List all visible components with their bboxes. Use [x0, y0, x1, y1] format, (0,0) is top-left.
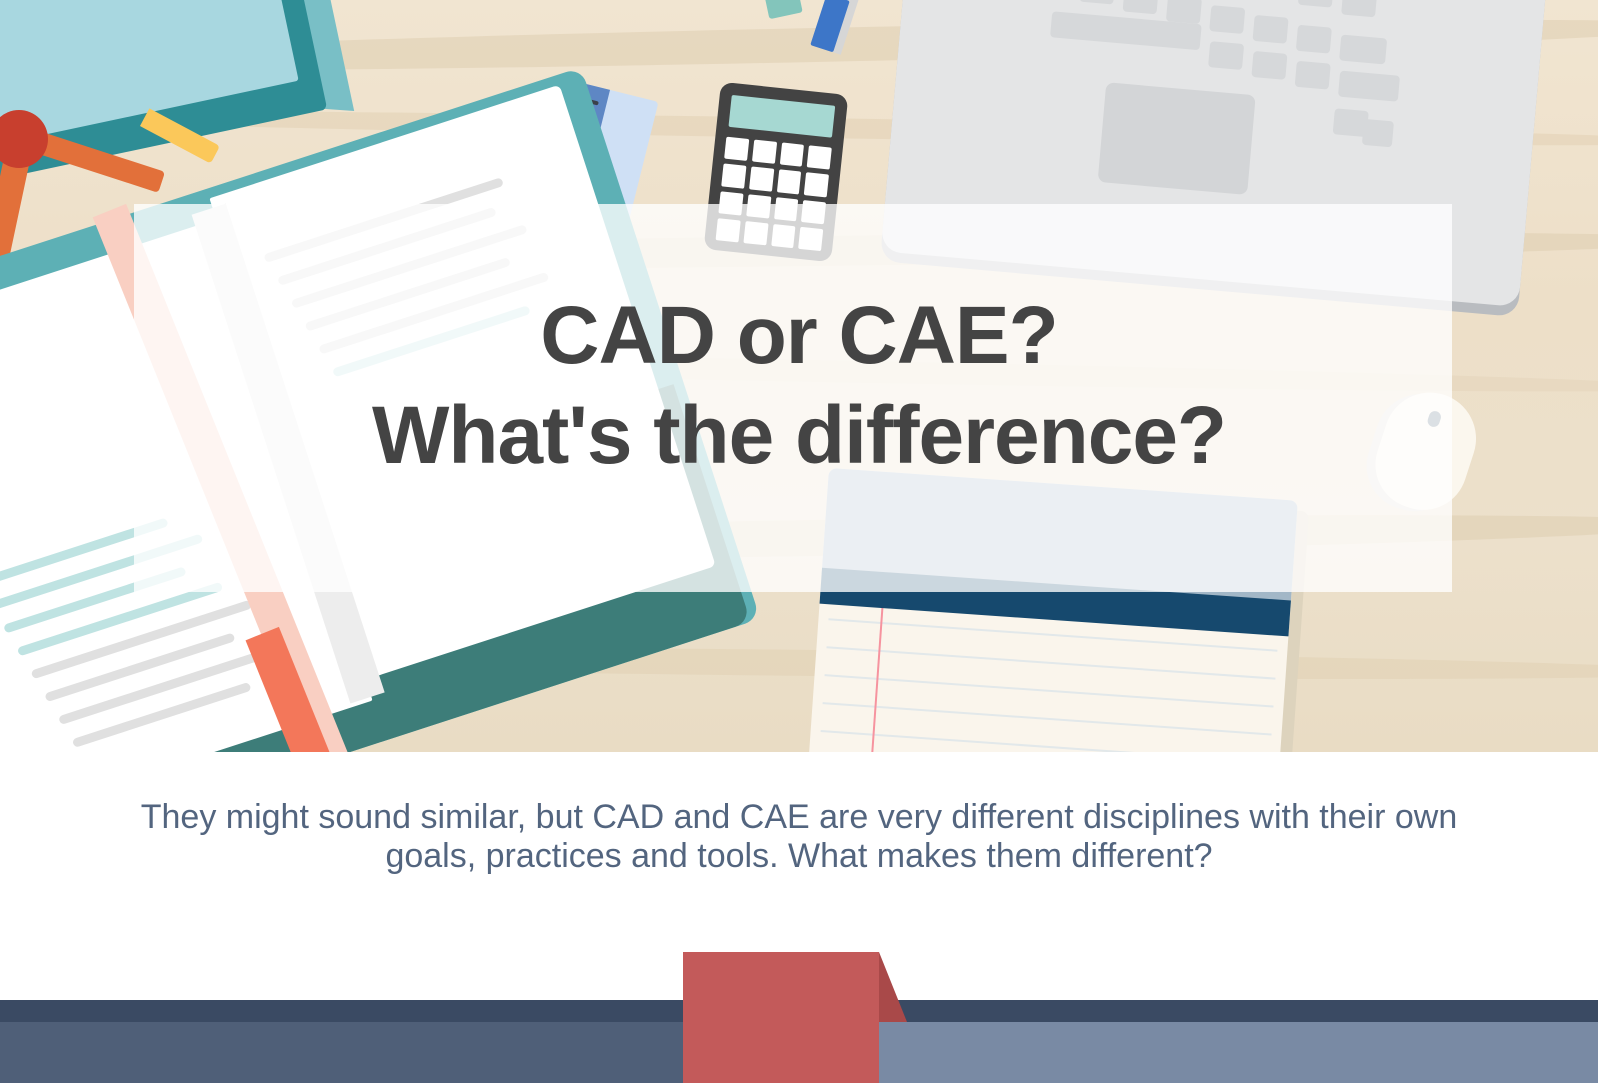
title-line-2: What's the difference?: [0, 386, 1598, 486]
infographic-page: CAD or CAE? What's the difference? They …: [0, 0, 1598, 1083]
calculator-key: [721, 164, 746, 189]
laptop-key: [1339, 35, 1387, 65]
hero-title: CAD or CAE? What's the difference?: [0, 286, 1598, 486]
laptop-key: [1295, 61, 1331, 90]
laptop-key: [1338, 71, 1400, 102]
panel-right: [799, 1022, 1598, 1083]
calculator-key: [807, 145, 832, 170]
laptop-key: [1341, 0, 1377, 17]
laptop-trackpad: [1098, 82, 1256, 195]
compass-nib: [140, 108, 220, 163]
laptop-key: [1362, 119, 1394, 148]
title-line-1: CAD or CAE?: [0, 286, 1598, 386]
calculator-screen: [728, 95, 835, 138]
intro-paragraph: They might sound similar, but CAD and CA…: [139, 798, 1459, 877]
calculator-key: [752, 140, 777, 165]
laptop-key: [1208, 41, 1244, 70]
panel-left: [0, 1022, 799, 1083]
calculator-key: [804, 172, 829, 197]
calculator-key: [724, 137, 749, 162]
center-ribbon: [683, 952, 879, 1083]
laptop-key: [1166, 0, 1202, 24]
hero-illustration: CAD or CAE? What's the difference?: [0, 0, 1598, 752]
laptop-key: [1252, 15, 1288, 44]
compass-pivot: [0, 110, 48, 168]
laptop-key: [1209, 5, 1245, 34]
calculator-key: [779, 142, 804, 167]
calculator-key: [776, 170, 801, 195]
calculator-key: [749, 167, 774, 192]
laptop-key: [1251, 51, 1287, 80]
laptop-key: [1296, 25, 1332, 54]
